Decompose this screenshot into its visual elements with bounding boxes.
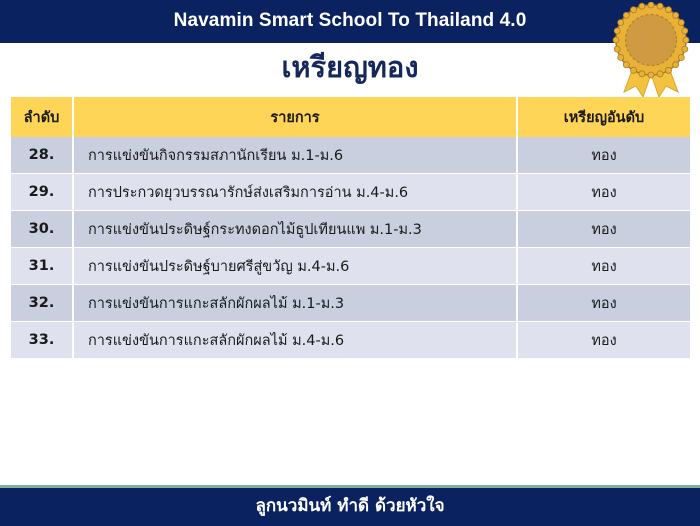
section-heading: เหรียญทอง [0, 47, 700, 87]
cell-item: การแข่งขันการแกะสลักผักผลไม้ ม.1-ม.3 [73, 285, 517, 322]
cell-item: การแข่งขันประดิษฐ์กระทงดอกไม้ธูปเทียนแพ … [73, 211, 517, 248]
cell-item: การประกวดยุวบรรณารักษ์ส่งเสริมการอ่าน ม.… [73, 174, 517, 211]
table-row: 33. การแข่งขันการแกะสลักผักผลไม้ ม.4-ม.6… [11, 322, 690, 359]
table-row: 28. การแข่งขันกิจกรรมสภานักเรียน ม.1-ม.6… [11, 137, 690, 174]
cell-rank: 33. [11, 322, 73, 359]
footer-slogan: ลูกนวมินท์ ทำดี ด้วยหัวใจ [0, 488, 700, 526]
cell-rank: 31. [11, 248, 73, 285]
column-header-rank: ลำดับ [11, 97, 73, 137]
page-title: Navamin Smart School To Thailand 4.0 [0, 0, 700, 43]
cell-item: การแข่งขันประดิษฐ์บายศรีสู่ขวัญ ม.4-ม.6 [73, 248, 517, 285]
cell-item: การแข่งขันกิจกรรมสภานักเรียน ม.1-ม.6 [73, 137, 517, 174]
results-table: ลำดับ รายการ เหรียญอันดับ 28. การแข่งขัน… [11, 97, 690, 359]
column-header-medal: เหรียญอันดับ [517, 97, 690, 137]
cell-medal: ทอง [517, 248, 690, 285]
footer-band: ลูกนวมินท์ ทำดี ด้วยหัวใจ [0, 485, 700, 526]
table-header-row: ลำดับ รายการ เหรียญอันดับ [11, 97, 690, 137]
column-header-item: รายการ [73, 97, 517, 137]
cell-medal: ทอง [517, 211, 690, 248]
table-row: 31. การแข่งขันประดิษฐ์บายศรีสู่ขวัญ ม.4-… [11, 248, 690, 285]
cell-rank: 30. [11, 211, 73, 248]
cell-rank: 32. [11, 285, 73, 322]
table-row: 29. การประกวดยุวบรรณารักษ์ส่งเสริมการอ่า… [11, 174, 690, 211]
cell-medal: ทอง [517, 137, 690, 174]
header-band: Navamin Smart School To Thailand 4.0 [0, 0, 700, 43]
cell-medal: ทอง [517, 285, 690, 322]
cell-rank: 28. [11, 137, 73, 174]
table-row: 32. การแข่งขันการแกะสลักผักผลไม้ ม.1-ม.3… [11, 285, 690, 322]
table-row: 30. การแข่งขันประดิษฐ์กระทงดอกไม้ธูปเทีย… [11, 211, 690, 248]
cell-medal: ทอง [517, 174, 690, 211]
cell-rank: 29. [11, 174, 73, 211]
cell-item: การแข่งขันการแกะสลักผักผลไม้ ม.4-ม.6 [73, 322, 517, 359]
cell-medal: ทอง [517, 322, 690, 359]
